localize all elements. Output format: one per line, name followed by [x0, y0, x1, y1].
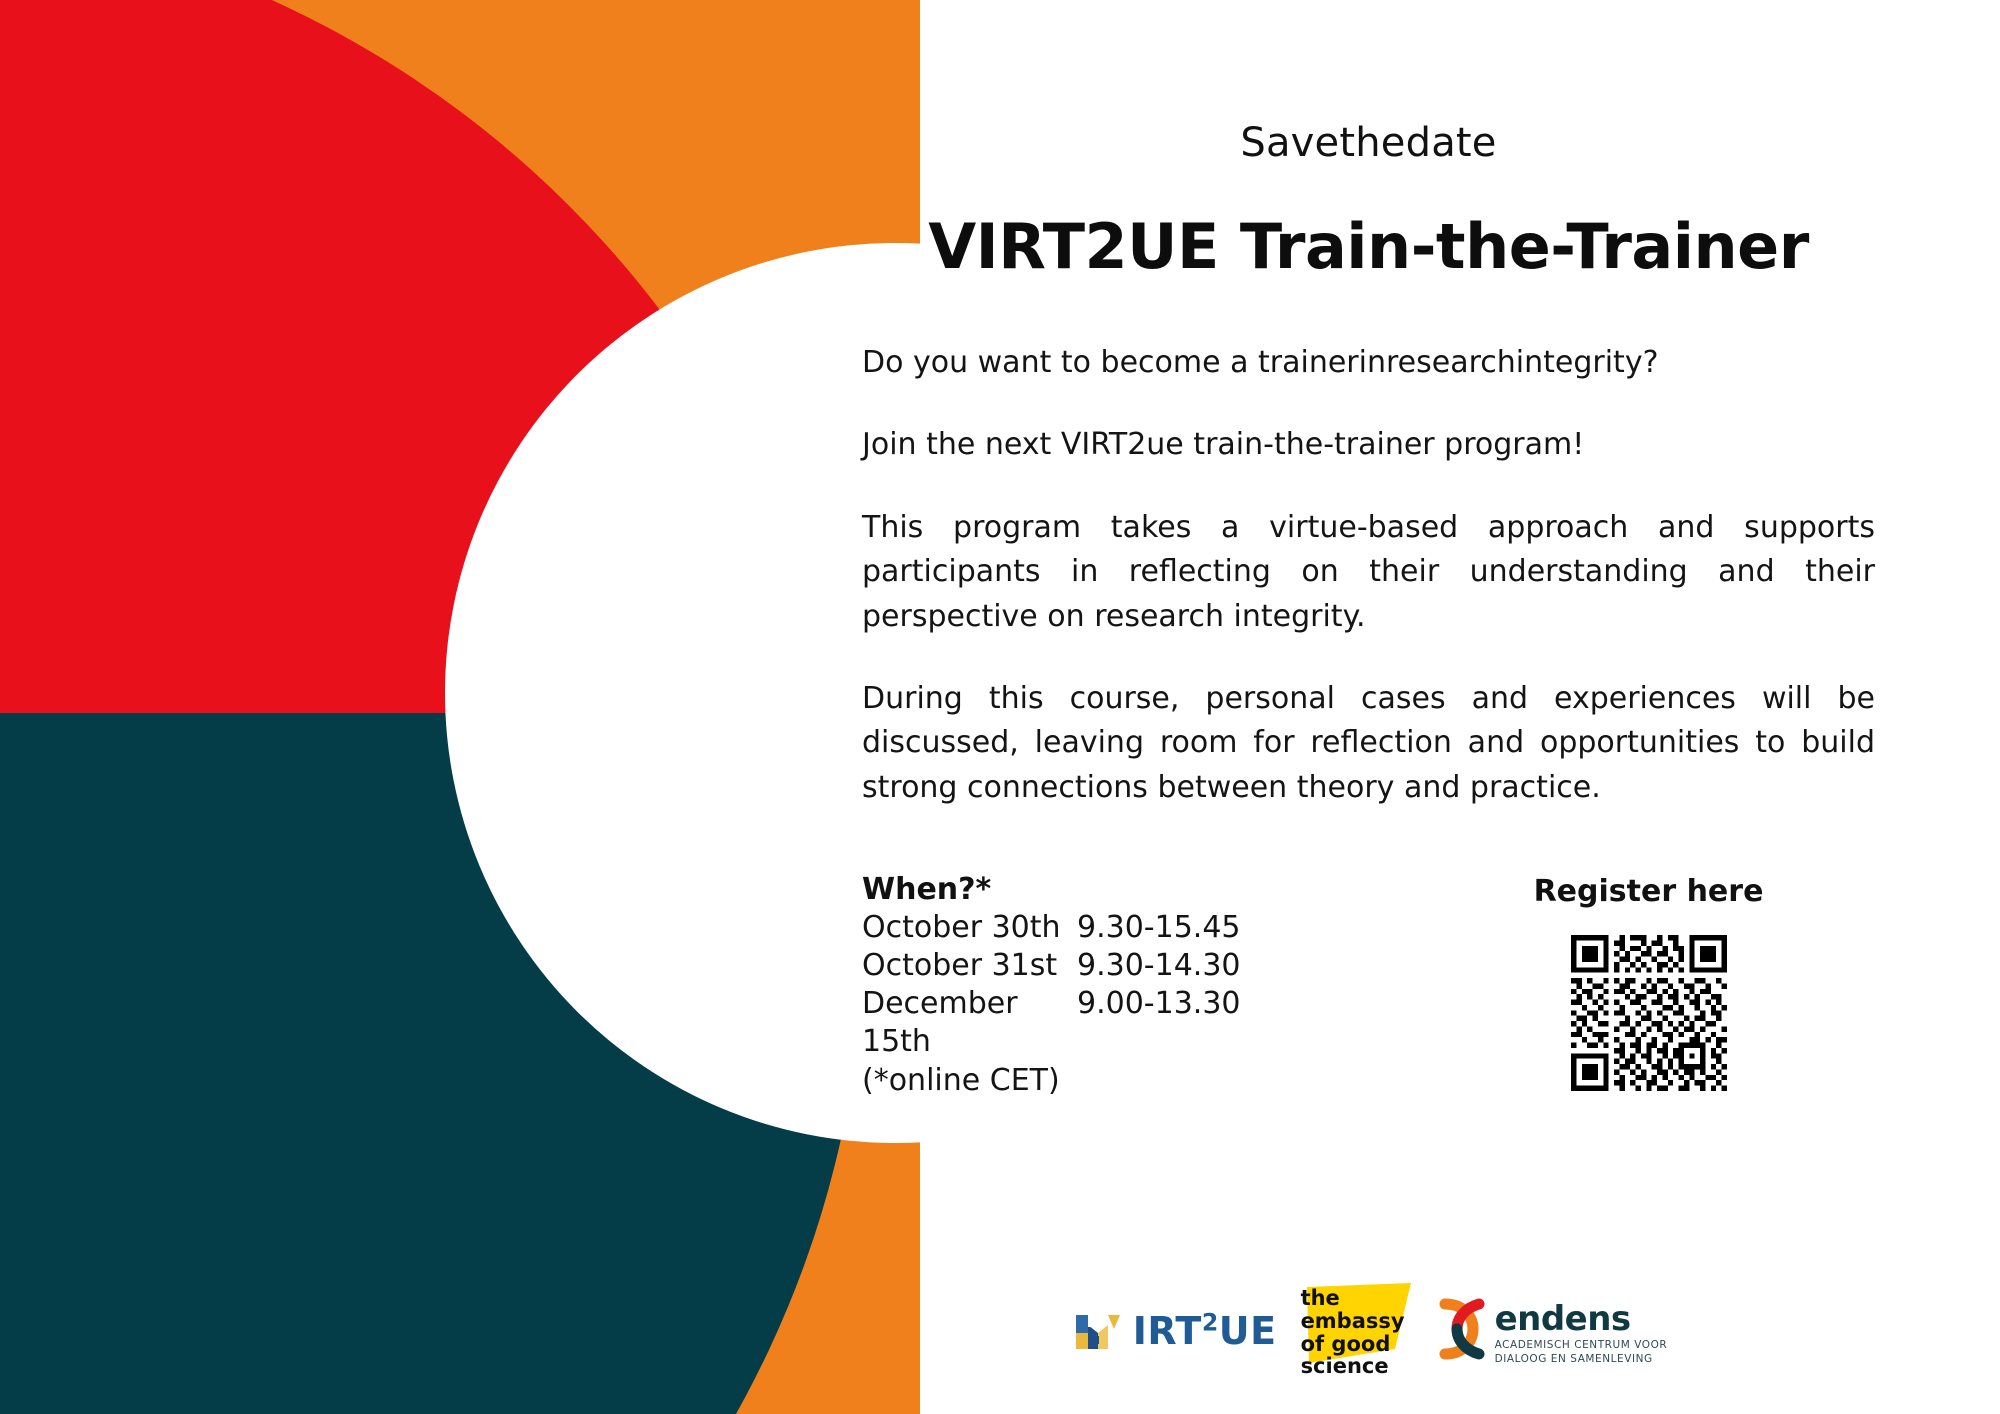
description-paragraph-1: This program takes a virtue-based approa…: [862, 506, 1875, 639]
embassy-line-1: the: [1301, 1287, 1405, 1310]
embassy-line-3: of good: [1301, 1333, 1405, 1356]
invite-line: Join the next VIRT2ue train-the-trainer …: [862, 423, 1875, 467]
xendens-mark-icon: [1439, 1298, 1501, 1360]
page-title: VIRT2UE Train-the-Trainer: [862, 210, 1875, 283]
poster-canvas: Savethedate VIRT2UE Train-the-Trainer Do…: [0, 0, 2000, 1414]
qr-code-icon[interactable]: [1571, 935, 1727, 1091]
schedule-row: October 30th 9.30-15.45: [862, 909, 1422, 947]
schedule-date: October 31st: [862, 947, 1077, 985]
xendens-tagline: ACADEMISCH CENTRUM VOOR DIALOOG EN SAMEN…: [1495, 1339, 1668, 1366]
virt2ue-word-prefix: IRT: [1133, 1309, 1202, 1353]
embassy-of-good-science-logo: the embassy of good science: [1299, 1283, 1417, 1379]
embassy-wordmark: the embassy of good science: [1299, 1284, 1405, 1378]
description-paragraph-2: During this course, personal cases and e…: [862, 677, 1875, 810]
logo-strip: IRT2UE the embassy of good science: [862, 1283, 1875, 1379]
when-heading: When?*: [862, 872, 1422, 907]
virt2ue-word-sup: 2: [1202, 1308, 1219, 1336]
details-row: When?* October 30th 9.30-15.45 October 3…: [862, 872, 1875, 1099]
schedule-date: December 15th: [862, 985, 1077, 1061]
virt2ue-word-suffix: UE: [1219, 1309, 1277, 1353]
xendens-wordmark: endens: [1495, 1302, 1668, 1336]
xendens-logo: endens ACADEMISCH CENTRUM VOOR DIALOOG E…: [1439, 1296, 1668, 1366]
qr-code-wrapper[interactable]: [1422, 935, 1875, 1091]
xendens-tagline-line-1: ACADEMISCH CENTRUM VOOR: [1495, 1339, 1668, 1352]
embassy-line-4: science: [1301, 1355, 1405, 1378]
virt2ue-logo: IRT2UE: [1070, 1303, 1277, 1359]
when-block: When?* October 30th 9.30-15.45 October 3…: [862, 872, 1422, 1099]
xendens-tagline-line-2: DIALOOG EN SAMENLEVING: [1495, 1353, 1668, 1366]
register-block: Register here: [1422, 872, 1875, 1099]
poster-content: Savethedate VIRT2UE Train-the-Trainer Do…: [862, 0, 1875, 1414]
embassy-line-2: embassy: [1301, 1310, 1405, 1333]
timezone-note: (*online CET): [862, 1062, 1422, 1100]
schedule-time: 9.30-15.45: [1077, 909, 1241, 947]
virt2ue-wordmark: IRT2UE: [1133, 1309, 1277, 1353]
schedule-row: December 15th 9.00-13.30: [862, 985, 1422, 1061]
schedule-time: 9.30-14.30: [1077, 947, 1241, 985]
register-heading: Register here: [1422, 874, 1875, 909]
savethedate-label: Savethedate: [862, 120, 1875, 166]
xendens-wordmark-block: endens ACADEMISCH CENTRUM VOOR DIALOOG E…: [1495, 1296, 1668, 1366]
virt2ue-mark-icon: [1070, 1303, 1126, 1359]
intro-question: Do you want to become a trainerinresearc…: [862, 341, 1875, 385]
schedule-row: October 31st 9.30-14.30: [862, 947, 1422, 985]
schedule-date: October 30th: [862, 909, 1077, 947]
schedule-time: 9.00-13.30: [1077, 985, 1241, 1061]
